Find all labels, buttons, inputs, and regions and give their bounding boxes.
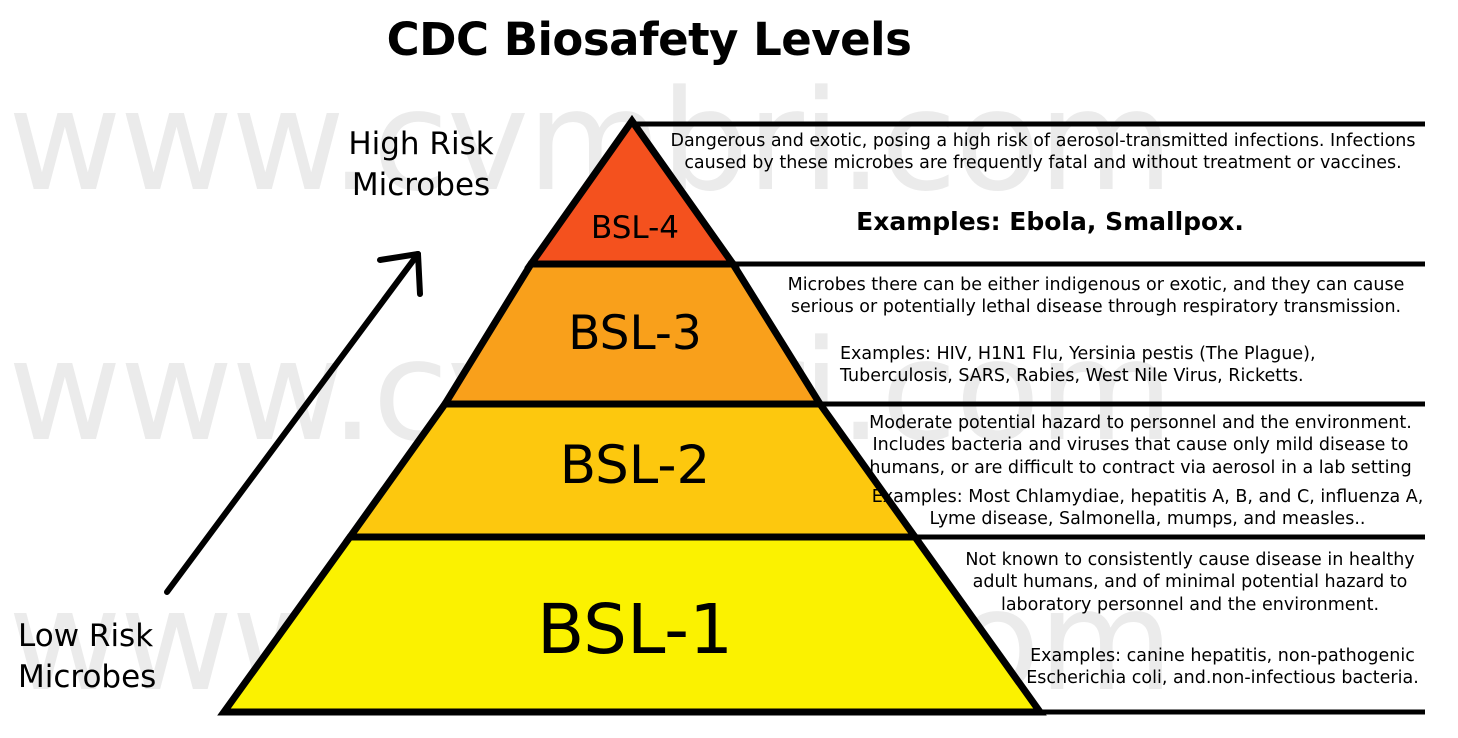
low-risk-label: Low Risk Microbes: [18, 616, 208, 698]
tier-label-bsl1: BSL-1: [495, 590, 775, 670]
description-bsl4: Dangerous and exotic, posing a high risk…: [657, 130, 1429, 175]
tier-label-bsl2: BSL-2: [510, 435, 760, 496]
examples-bsl4: Examples: Ebola, Smallpox.: [700, 206, 1400, 238]
high-risk-label: High Risk Microbes: [336, 124, 506, 206]
tier-label-bsl3: BSL-3: [525, 306, 745, 361]
examples-bsl1: Examples: canine hepatitis, non-pathogen…: [1010, 645, 1435, 690]
examples-bsl3: Examples: HIV, H1N1 Flu, Yersinia pestis…: [840, 343, 1430, 388]
description-bsl3: Microbes there can be either indigenous …: [765, 274, 1427, 319]
page-title: CDC Biosafety Levels: [0, 13, 1298, 66]
description-bsl2: Moderate potential hazard to personnel a…: [848, 412, 1433, 479]
examples-bsl2: Examples: Most Chlamydiae, hepatitis A, …: [855, 486, 1440, 531]
description-bsl1: Not known to consistently cause disease …: [950, 549, 1430, 616]
biosafety-pyramid-diagram: www.cvmbri.com www.cvmbri.com www.cvmbri…: [0, 0, 1458, 738]
